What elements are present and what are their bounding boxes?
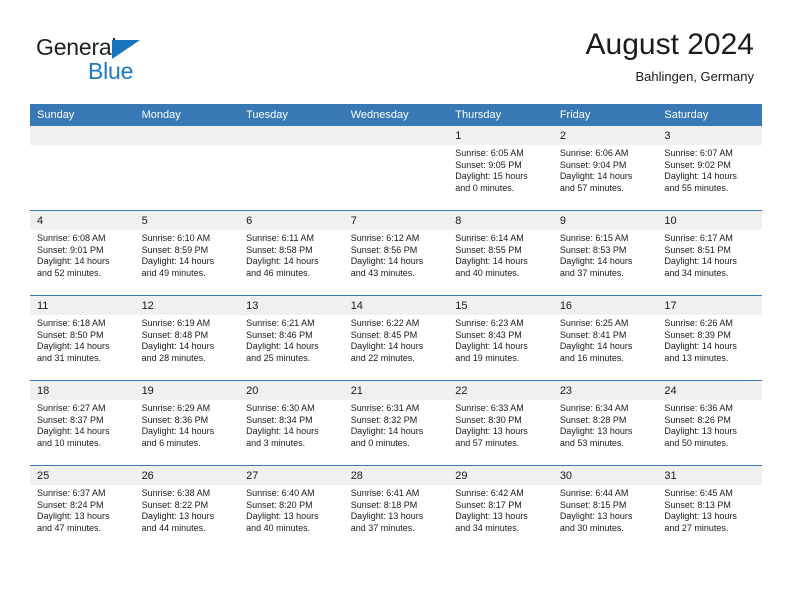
sunset-text: Sunset: 8:56 PM	[351, 245, 443, 257]
logo-flag-icon	[112, 40, 140, 59]
day-details: Sunrise: 6:23 AM Sunset: 8:43 PM Dayligh…	[448, 315, 553, 364]
day-cell[interactable]: 31 Sunrise: 6:45 AM Sunset: 8:13 PM Dayl…	[657, 466, 762, 551]
calendar-week-row: 4 Sunrise: 6:08 AM Sunset: 9:01 PM Dayli…	[30, 211, 762, 296]
day-details: Sunrise: 6:29 AM Sunset: 8:36 PM Dayligh…	[135, 400, 240, 449]
daylight-text-line1: Daylight: 13 hours	[560, 426, 652, 438]
calendar-week-row: 25 Sunrise: 6:37 AM Sunset: 8:24 PM Dayl…	[30, 466, 762, 551]
day-cell[interactable]: 17 Sunrise: 6:26 AM Sunset: 8:39 PM Dayl…	[657, 296, 762, 381]
sunrise-text: Sunrise: 6:22 AM	[351, 318, 443, 330]
daylight-text-line1: Daylight: 14 hours	[37, 341, 129, 353]
daylight-text-line1: Daylight: 13 hours	[664, 426, 756, 438]
sunrise-text: Sunrise: 6:23 AM	[455, 318, 547, 330]
calendar-grid: Sunday Monday Tuesday Wednesday Thursday…	[30, 104, 762, 550]
daylight-text-line1: Daylight: 15 hours	[455, 171, 547, 183]
day-details: Sunrise: 6:11 AM Sunset: 8:58 PM Dayligh…	[239, 230, 344, 279]
sunset-text: Sunset: 9:02 PM	[664, 160, 756, 172]
weekday-header-wednesday: Wednesday	[344, 104, 449, 126]
sunrise-text: Sunrise: 6:14 AM	[455, 233, 547, 245]
day-number: 27	[239, 466, 344, 485]
sunset-text: Sunset: 8:26 PM	[664, 415, 756, 427]
daylight-text-line1: Daylight: 14 hours	[351, 426, 443, 438]
sunset-text: Sunset: 8:20 PM	[246, 500, 338, 512]
daylight-text-line2: and 22 minutes.	[351, 353, 443, 365]
day-details: Sunrise: 6:10 AM Sunset: 8:59 PM Dayligh…	[135, 230, 240, 279]
day-number: 12	[135, 296, 240, 315]
weekday-header-row: Sunday Monday Tuesday Wednesday Thursday…	[30, 104, 762, 126]
day-number: 30	[553, 466, 658, 485]
weekday-header-monday: Monday	[135, 104, 240, 126]
sunset-text: Sunset: 9:01 PM	[37, 245, 129, 257]
sunset-text: Sunset: 8:24 PM	[37, 500, 129, 512]
day-number: 13	[239, 296, 344, 315]
daylight-text-line1: Daylight: 13 hours	[142, 511, 234, 523]
daylight-text-line1: Daylight: 13 hours	[351, 511, 443, 523]
day-cell[interactable]: 18 Sunrise: 6:27 AM Sunset: 8:37 PM Dayl…	[30, 381, 135, 466]
day-details: Sunrise: 6:05 AM Sunset: 9:05 PM Dayligh…	[448, 145, 553, 194]
daylight-text-line2: and 40 minutes.	[246, 523, 338, 535]
day-cell[interactable]: 16 Sunrise: 6:25 AM Sunset: 8:41 PM Dayl…	[553, 296, 658, 381]
day-number: 5	[135, 211, 240, 230]
daylight-text-line2: and 43 minutes.	[351, 268, 443, 280]
sunset-text: Sunset: 8:37 PM	[37, 415, 129, 427]
day-details: Sunrise: 6:44 AM Sunset: 8:15 PM Dayligh…	[553, 485, 658, 534]
day-cell[interactable]: 25 Sunrise: 6:37 AM Sunset: 8:24 PM Dayl…	[30, 466, 135, 551]
day-cell[interactable]: 28 Sunrise: 6:41 AM Sunset: 8:18 PM Dayl…	[344, 466, 449, 551]
sunrise-text: Sunrise: 6:10 AM	[142, 233, 234, 245]
sunset-text: Sunset: 8:50 PM	[37, 330, 129, 342]
day-cell[interactable]: 9 Sunrise: 6:15 AM Sunset: 8:53 PM Dayli…	[553, 211, 658, 296]
day-details: Sunrise: 6:07 AM Sunset: 9:02 PM Dayligh…	[657, 145, 762, 194]
daylight-text-line2: and 25 minutes.	[246, 353, 338, 365]
calendar-week-row: 18 Sunrise: 6:27 AM Sunset: 8:37 PM Dayl…	[30, 381, 762, 466]
sunset-text: Sunset: 8:48 PM	[142, 330, 234, 342]
sunset-text: Sunset: 9:05 PM	[455, 160, 547, 172]
day-number: 24	[657, 381, 762, 400]
daylight-text-line1: Daylight: 14 hours	[246, 341, 338, 353]
day-number: 19	[135, 381, 240, 400]
day-cell[interactable]: 10 Sunrise: 6:17 AM Sunset: 8:51 PM Dayl…	[657, 211, 762, 296]
daylight-text-line2: and 3 minutes.	[246, 438, 338, 450]
daylight-text-line1: Daylight: 14 hours	[351, 341, 443, 353]
day-details: Sunrise: 6:30 AM Sunset: 8:34 PM Dayligh…	[239, 400, 344, 449]
day-cell[interactable]: 6 Sunrise: 6:11 AM Sunset: 8:58 PM Dayli…	[239, 211, 344, 296]
daylight-text-line2: and 34 minutes.	[664, 268, 756, 280]
day-cell[interactable]: 19 Sunrise: 6:29 AM Sunset: 8:36 PM Dayl…	[135, 381, 240, 466]
day-details: Sunrise: 6:18 AM Sunset: 8:50 PM Dayligh…	[30, 315, 135, 364]
sunset-text: Sunset: 8:32 PM	[351, 415, 443, 427]
sunrise-text: Sunrise: 6:37 AM	[37, 488, 129, 500]
daylight-text-line1: Daylight: 14 hours	[246, 426, 338, 438]
daylight-text-line1: Daylight: 14 hours	[455, 256, 547, 268]
daylight-text-line1: Daylight: 14 hours	[142, 426, 234, 438]
day-details: Sunrise: 6:06 AM Sunset: 9:04 PM Dayligh…	[553, 145, 658, 194]
sunset-text: Sunset: 8:59 PM	[142, 245, 234, 257]
sunrise-text: Sunrise: 6:31 AM	[351, 403, 443, 415]
weekday-header-friday: Friday	[553, 104, 658, 126]
daylight-text-line2: and 53 minutes.	[560, 438, 652, 450]
day-number	[135, 126, 240, 145]
daylight-text-line2: and 37 minutes.	[351, 523, 443, 535]
sunrise-text: Sunrise: 6:30 AM	[246, 403, 338, 415]
calendar-body: 1 Sunrise: 6:05 AM Sunset: 9:05 PM Dayli…	[30, 126, 762, 550]
sunset-text: Sunset: 8:53 PM	[560, 245, 652, 257]
sunrise-text: Sunrise: 6:18 AM	[37, 318, 129, 330]
sunrise-text: Sunrise: 6:17 AM	[664, 233, 756, 245]
daylight-text-line1: Daylight: 13 hours	[246, 511, 338, 523]
daylight-text-line1: Daylight: 14 hours	[351, 256, 443, 268]
day-number: 11	[30, 296, 135, 315]
daylight-text-line2: and 44 minutes.	[142, 523, 234, 535]
sunset-text: Sunset: 8:18 PM	[351, 500, 443, 512]
day-details: Sunrise: 6:25 AM Sunset: 8:41 PM Dayligh…	[553, 315, 658, 364]
weekday-header-sunday: Sunday	[30, 104, 135, 126]
day-cell[interactable]: 13 Sunrise: 6:21 AM Sunset: 8:46 PM Dayl…	[239, 296, 344, 381]
weekday-header-thursday: Thursday	[448, 104, 553, 126]
daylight-text-line1: Daylight: 13 hours	[37, 511, 129, 523]
daylight-text-line2: and 19 minutes.	[455, 353, 547, 365]
daylight-text-line2: and 40 minutes.	[455, 268, 547, 280]
day-cell[interactable]: 21 Sunrise: 6:31 AM Sunset: 8:32 PM Dayl…	[344, 381, 449, 466]
daylight-text-line2: and 10 minutes.	[37, 438, 129, 450]
day-number: 7	[344, 211, 449, 230]
day-details: Sunrise: 6:08 AM Sunset: 9:01 PM Dayligh…	[30, 230, 135, 279]
daylight-text-line2: and 49 minutes.	[142, 268, 234, 280]
day-number: 21	[344, 381, 449, 400]
daylight-text-line2: and 46 minutes.	[246, 268, 338, 280]
sunrise-text: Sunrise: 6:19 AM	[142, 318, 234, 330]
daylight-text-line2: and 31 minutes.	[37, 353, 129, 365]
day-details: Sunrise: 6:19 AM Sunset: 8:48 PM Dayligh…	[135, 315, 240, 364]
sunset-text: Sunset: 8:45 PM	[351, 330, 443, 342]
day-cell[interactable]: 20 Sunrise: 6:30 AM Sunset: 8:34 PM Dayl…	[239, 381, 344, 466]
weekday-header-saturday: Saturday	[657, 104, 762, 126]
sunrise-text: Sunrise: 6:15 AM	[560, 233, 652, 245]
sunset-text: Sunset: 8:36 PM	[142, 415, 234, 427]
daylight-text-line2: and 27 minutes.	[664, 523, 756, 535]
sunset-text: Sunset: 8:28 PM	[560, 415, 652, 427]
sunrise-text: Sunrise: 6:36 AM	[664, 403, 756, 415]
sunrise-text: Sunrise: 6:41 AM	[351, 488, 443, 500]
day-number: 4	[30, 211, 135, 230]
sunset-text: Sunset: 8:13 PM	[664, 500, 756, 512]
day-cell[interactable]: 22 Sunrise: 6:33 AM Sunset: 8:30 PM Dayl…	[448, 381, 553, 466]
day-number	[30, 126, 135, 145]
day-number: 22	[448, 381, 553, 400]
daylight-text-line2: and 57 minutes.	[455, 438, 547, 450]
day-cell[interactable]: 15 Sunrise: 6:23 AM Sunset: 8:43 PM Dayl…	[448, 296, 553, 381]
daylight-text-line1: Daylight: 14 hours	[560, 341, 652, 353]
day-cell[interactable]: 8 Sunrise: 6:14 AM Sunset: 8:55 PM Dayli…	[448, 211, 553, 296]
daylight-text-line2: and 30 minutes.	[560, 523, 652, 535]
daylight-text-line2: and 52 minutes.	[37, 268, 129, 280]
day-details: Sunrise: 6:27 AM Sunset: 8:37 PM Dayligh…	[30, 400, 135, 449]
daylight-text-line1: Daylight: 13 hours	[560, 511, 652, 523]
daylight-text-line2: and 37 minutes.	[560, 268, 652, 280]
daylight-text-line1: Daylight: 13 hours	[664, 511, 756, 523]
day-cell[interactable]: 12 Sunrise: 6:19 AM Sunset: 8:48 PM Dayl…	[135, 296, 240, 381]
sunset-text: Sunset: 8:43 PM	[455, 330, 547, 342]
page-title: August 2024	[586, 28, 754, 62]
sunrise-text: Sunrise: 6:21 AM	[246, 318, 338, 330]
day-number: 20	[239, 381, 344, 400]
day-cell[interactable]: 1 Sunrise: 6:05 AM Sunset: 9:05 PM Dayli…	[448, 126, 553, 211]
day-cell[interactable]: 4 Sunrise: 6:08 AM Sunset: 9:01 PM Dayli…	[30, 211, 135, 296]
day-cell-empty	[30, 126, 135, 211]
day-number: 14	[344, 296, 449, 315]
day-cell[interactable]: 27 Sunrise: 6:40 AM Sunset: 8:20 PM Dayl…	[239, 466, 344, 551]
sunset-text: Sunset: 8:55 PM	[455, 245, 547, 257]
sunrise-text: Sunrise: 6:40 AM	[246, 488, 338, 500]
day-details: Sunrise: 6:26 AM Sunset: 8:39 PM Dayligh…	[657, 315, 762, 364]
calendar-weekday-header: Sunday Monday Tuesday Wednesday Thursday…	[30, 104, 762, 126]
day-details: Sunrise: 6:36 AM Sunset: 8:26 PM Dayligh…	[657, 400, 762, 449]
day-number: 17	[657, 296, 762, 315]
day-cell-empty	[344, 126, 449, 211]
sunrise-text: Sunrise: 6:38 AM	[142, 488, 234, 500]
day-cell[interactable]: 29 Sunrise: 6:42 AM Sunset: 8:17 PM Dayl…	[448, 466, 553, 551]
day-number: 26	[135, 466, 240, 485]
daylight-text-line2: and 0 minutes.	[351, 438, 443, 450]
logo-text-blue: Blue	[88, 58, 133, 85]
daylight-text-line1: Daylight: 14 hours	[37, 256, 129, 268]
weekday-header-tuesday: Tuesday	[239, 104, 344, 126]
sunrise-text: Sunrise: 6:06 AM	[560, 148, 652, 160]
daylight-text-line2: and 47 minutes.	[37, 523, 129, 535]
sunset-text: Sunset: 8:17 PM	[455, 500, 547, 512]
sunrise-text: Sunrise: 6:05 AM	[455, 148, 547, 160]
sunset-text: Sunset: 8:22 PM	[142, 500, 234, 512]
day-number: 18	[30, 381, 135, 400]
sunrise-text: Sunrise: 6:12 AM	[351, 233, 443, 245]
daylight-text-line2: and 0 minutes.	[455, 183, 547, 195]
day-cell-empty	[135, 126, 240, 211]
sunrise-text: Sunrise: 6:29 AM	[142, 403, 234, 415]
day-details: Sunrise: 6:21 AM Sunset: 8:46 PM Dayligh…	[239, 315, 344, 364]
daylight-text-line2: and 16 minutes.	[560, 353, 652, 365]
day-cell[interactable]: 30 Sunrise: 6:44 AM Sunset: 8:15 PM Dayl…	[553, 466, 658, 551]
daylight-text-line2: and 6 minutes.	[142, 438, 234, 450]
day-number: 10	[657, 211, 762, 230]
day-details: Sunrise: 6:12 AM Sunset: 8:56 PM Dayligh…	[344, 230, 449, 279]
day-number: 15	[448, 296, 553, 315]
sunset-text: Sunset: 8:15 PM	[560, 500, 652, 512]
day-number: 28	[344, 466, 449, 485]
sunset-text: Sunset: 8:51 PM	[664, 245, 756, 257]
day-cell[interactable]: 11 Sunrise: 6:18 AM Sunset: 8:50 PM Dayl…	[30, 296, 135, 381]
sunrise-text: Sunrise: 6:11 AM	[246, 233, 338, 245]
day-details: Sunrise: 6:22 AM Sunset: 8:45 PM Dayligh…	[344, 315, 449, 364]
day-details: Sunrise: 6:33 AM Sunset: 8:30 PM Dayligh…	[448, 400, 553, 449]
daylight-text-line1: Daylight: 14 hours	[664, 341, 756, 353]
sunset-text: Sunset: 9:04 PM	[560, 160, 652, 172]
sunset-text: Sunset: 8:41 PM	[560, 330, 652, 342]
sunrise-text: Sunrise: 6:26 AM	[664, 318, 756, 330]
day-number: 16	[553, 296, 658, 315]
calendar-week-row: 1 Sunrise: 6:05 AM Sunset: 9:05 PM Dayli…	[30, 126, 762, 211]
daylight-text-line2: and 34 minutes.	[455, 523, 547, 535]
daylight-text-line1: Daylight: 14 hours	[142, 341, 234, 353]
general-blue-logo[interactable]: General Blue	[36, 34, 236, 86]
day-number: 9	[553, 211, 658, 230]
daylight-text-line2: and 57 minutes.	[560, 183, 652, 195]
day-cell[interactable]: 23 Sunrise: 6:34 AM Sunset: 8:28 PM Dayl…	[553, 381, 658, 466]
day-number: 1	[448, 126, 553, 145]
sunrise-text: Sunrise: 6:33 AM	[455, 403, 547, 415]
day-cell-empty	[239, 126, 344, 211]
day-details: Sunrise: 6:17 AM Sunset: 8:51 PM Dayligh…	[657, 230, 762, 279]
daylight-text-line1: Daylight: 14 hours	[37, 426, 129, 438]
daylight-text-line2: and 28 minutes.	[142, 353, 234, 365]
sunset-text: Sunset: 8:58 PM	[246, 245, 338, 257]
sunset-text: Sunset: 8:34 PM	[246, 415, 338, 427]
title-block: August 2024 Bahlingen, Germany	[586, 28, 754, 86]
day-details: Sunrise: 6:15 AM Sunset: 8:53 PM Dayligh…	[553, 230, 658, 279]
day-number	[344, 126, 449, 145]
day-details: Sunrise: 6:14 AM Sunset: 8:55 PM Dayligh…	[448, 230, 553, 279]
day-details: Sunrise: 6:34 AM Sunset: 8:28 PM Dayligh…	[553, 400, 658, 449]
daylight-text-line2: and 55 minutes.	[664, 183, 756, 195]
sunset-text: Sunset: 8:46 PM	[246, 330, 338, 342]
day-details: Sunrise: 6:40 AM Sunset: 8:20 PM Dayligh…	[239, 485, 344, 534]
daylight-text-line1: Daylight: 14 hours	[560, 171, 652, 183]
sunrise-text: Sunrise: 6:07 AM	[664, 148, 756, 160]
daylight-text-line1: Daylight: 14 hours	[664, 171, 756, 183]
sunrise-text: Sunrise: 6:34 AM	[560, 403, 652, 415]
day-number: 8	[448, 211, 553, 230]
day-cell[interactable]: 2 Sunrise: 6:06 AM Sunset: 9:04 PM Dayli…	[553, 126, 658, 211]
day-number: 23	[553, 381, 658, 400]
day-cell[interactable]: 7 Sunrise: 6:12 AM Sunset: 8:56 PM Dayli…	[344, 211, 449, 296]
daylight-text-line1: Daylight: 13 hours	[455, 511, 547, 523]
sunrise-text: Sunrise: 6:42 AM	[455, 488, 547, 500]
calendar-week-row: 11 Sunrise: 6:18 AM Sunset: 8:50 PM Dayl…	[30, 296, 762, 381]
day-number: 6	[239, 211, 344, 230]
day-number: 2	[553, 126, 658, 145]
day-cell[interactable]: 24 Sunrise: 6:36 AM Sunset: 8:26 PM Dayl…	[657, 381, 762, 466]
day-number: 25	[30, 466, 135, 485]
day-cell[interactable]: 3 Sunrise: 6:07 AM Sunset: 9:02 PM Dayli…	[657, 126, 762, 211]
daylight-text-line1: Daylight: 14 hours	[246, 256, 338, 268]
day-cell[interactable]: 14 Sunrise: 6:22 AM Sunset: 8:45 PM Dayl…	[344, 296, 449, 381]
daylight-text-line1: Daylight: 14 hours	[142, 256, 234, 268]
day-cell[interactable]: 5 Sunrise: 6:10 AM Sunset: 8:59 PM Dayli…	[135, 211, 240, 296]
logo-text-general: General	[36, 34, 116, 61]
sunrise-text: Sunrise: 6:45 AM	[664, 488, 756, 500]
day-number: 31	[657, 466, 762, 485]
sunset-text: Sunset: 8:39 PM	[664, 330, 756, 342]
sunrise-text: Sunrise: 6:27 AM	[37, 403, 129, 415]
sunset-text: Sunset: 8:30 PM	[455, 415, 547, 427]
day-number	[239, 126, 344, 145]
daylight-text-line1: Daylight: 14 hours	[664, 256, 756, 268]
calendar-page: General Blue August 2024 Bahlingen, Germ…	[0, 0, 792, 612]
daylight-text-line2: and 13 minutes.	[664, 353, 756, 365]
sunrise-text: Sunrise: 6:44 AM	[560, 488, 652, 500]
sunrise-text: Sunrise: 6:08 AM	[37, 233, 129, 245]
daylight-text-line1: Daylight: 13 hours	[455, 426, 547, 438]
day-details: Sunrise: 6:41 AM Sunset: 8:18 PM Dayligh…	[344, 485, 449, 534]
day-details: Sunrise: 6:45 AM Sunset: 8:13 PM Dayligh…	[657, 485, 762, 534]
page-subtitle-location: Bahlingen, Germany	[586, 68, 754, 86]
day-number: 3	[657, 126, 762, 145]
day-details: Sunrise: 6:42 AM Sunset: 8:17 PM Dayligh…	[448, 485, 553, 534]
daylight-text-line1: Daylight: 14 hours	[560, 256, 652, 268]
day-cell[interactable]: 26 Sunrise: 6:38 AM Sunset: 8:22 PM Dayl…	[135, 466, 240, 551]
daylight-text-line2: and 50 minutes.	[664, 438, 756, 450]
day-number: 29	[448, 466, 553, 485]
page-header: General Blue August 2024 Bahlingen, Germ…	[0, 0, 792, 100]
day-details: Sunrise: 6:31 AM Sunset: 8:32 PM Dayligh…	[344, 400, 449, 449]
day-details: Sunrise: 6:37 AM Sunset: 8:24 PM Dayligh…	[30, 485, 135, 534]
sunrise-text: Sunrise: 6:25 AM	[560, 318, 652, 330]
day-details: Sunrise: 6:38 AM Sunset: 8:22 PM Dayligh…	[135, 485, 240, 534]
daylight-text-line1: Daylight: 14 hours	[455, 341, 547, 353]
